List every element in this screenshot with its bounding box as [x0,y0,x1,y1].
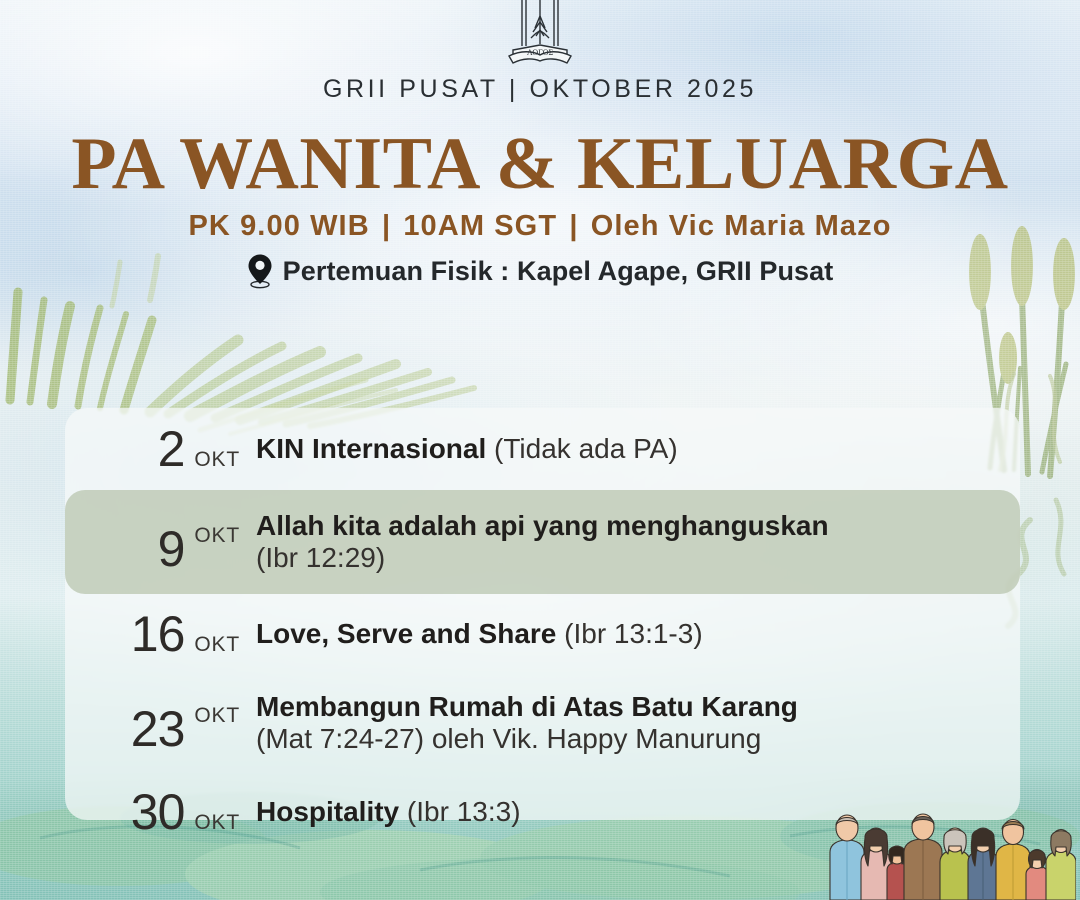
schedule-day-number-3: 16 [131,609,185,659]
schedule-list: 2 OKT KIN Internasional (Tidak ada PA) 9… [65,408,1020,852]
schedule-date-3: 16 OKT [65,609,256,659]
schedule-row-3[interactable]: 16 OKT Love, Serve and Share (Ibr 13:1-3… [65,594,1020,674]
page-title: PA WANITA & KELUARGA [0,126,1080,203]
family-person-6 [996,820,1030,900]
schedule-topic-line2-4: (Mat 7:24-27) oleh Vik. Happy Manurung [256,723,1002,755]
schedule-topic-3: Love, Serve and Share (Ibr 13:1-3) [256,618,1020,650]
schedule-day-number-1: 2 [158,424,185,474]
schedule-day-number-4: 23 [131,704,185,754]
schedule-date-1: 2 OKT [65,424,256,474]
venue-line: Pertemuan Fisik : Kapel Agape, GRII Pusa… [0,253,1080,289]
location-pin-icon [247,253,273,289]
logo-container: ΛΟΓΟΣ [0,0,1080,72]
schedule-topic-title-2: Allah kita adalah api yang menghanguskan [256,510,829,541]
schedule-topic-title-4: Membangun Rumah di Atas Batu Karang [256,691,798,722]
time-and-speaker-line: PK 9.00 WIB | 10AM SGT | Oleh Vic Maria … [0,210,1080,243]
speaker-name: Vic Maria Mazo [669,210,892,242]
schedule-topic-title-3: Love, Serve and Share [256,618,556,649]
schedule-topic-ref-5: (Ibr 13:3) [407,796,521,827]
schedule-topic-2: Allah kita adalah api yang menghanguskan… [256,510,1020,575]
family-person-1 [830,815,864,900]
eyebrow-text: GRII PUSAT | OKTOBER 2025 [0,76,1080,104]
schedule-topic-4: Membangun Rumah di Atas Batu Karang (Mat… [256,691,1020,756]
schedule-day-month-3: OKT [194,633,240,657]
grii-lotos-logo-icon: ΛΟΓΟΣ [495,0,585,72]
time-separator-2: | [566,210,581,242]
schedule-date-5: 30 OKT [65,787,256,837]
schedule-day-number-2: 9 [158,524,185,574]
family-baby [1026,850,1048,900]
family-person-3 [904,814,942,900]
family-person-7 [1046,830,1076,900]
schedule-row-2[interactable]: 9 OKT Allah kita adalah api yang menghan… [65,490,1020,594]
family-person-5 [968,828,998,900]
schedule-day-month-2: OKT [194,524,240,548]
schedule-day-number-5: 30 [131,787,185,837]
schedule-day-month-1: OKT [194,448,240,472]
poster-canvas: ΛΟΓΟΣ GRII PUSAT | OKTOBER 2025 PA WANIT… [0,0,1080,900]
schedule-day-month-5: OKT [194,811,240,835]
schedule-date-4: 23 OKT [65,692,256,754]
speaker-prefix: Oleh [591,210,660,242]
logo-book-text: ΛΟΓΟΣ [527,48,554,57]
schedule-topic-ref-1: (Tidak ada PA) [494,433,678,464]
time-sgt: 10AM SGT [403,210,557,242]
family-person-4 [940,828,970,900]
schedule-topic-line2-2: (Ibr 12:29) [256,542,1002,574]
schedule-topic-1: KIN Internasional (Tidak ada PA) [256,433,1020,465]
time-separator-1: | [379,210,394,242]
schedule-topic-title-1: KIN Internasional [256,433,486,464]
schedule-date-2: 9 OKT [65,510,256,574]
schedule-row-4[interactable]: 23 OKT Membangun Rumah di Atas Batu Kara… [65,674,1020,772]
schedule-topic-ref-3: (Ibr 13:1-3) [564,618,703,649]
venue-text: Pertemuan Fisik : Kapel Agape, GRII Pusa… [283,256,834,287]
family-group-illustration [826,808,1076,900]
schedule-day-month-4: OKT [194,704,240,728]
schedule-row-1[interactable]: 2 OKT KIN Internasional (Tidak ada PA) [65,408,1020,490]
schedule-topic-title-5: Hospitality [256,796,399,827]
poster-header: GRII PUSAT | OKTOBER 2025 PA WANITA & KE… [0,76,1080,289]
time-local: PK 9.00 WIB [188,210,369,242]
